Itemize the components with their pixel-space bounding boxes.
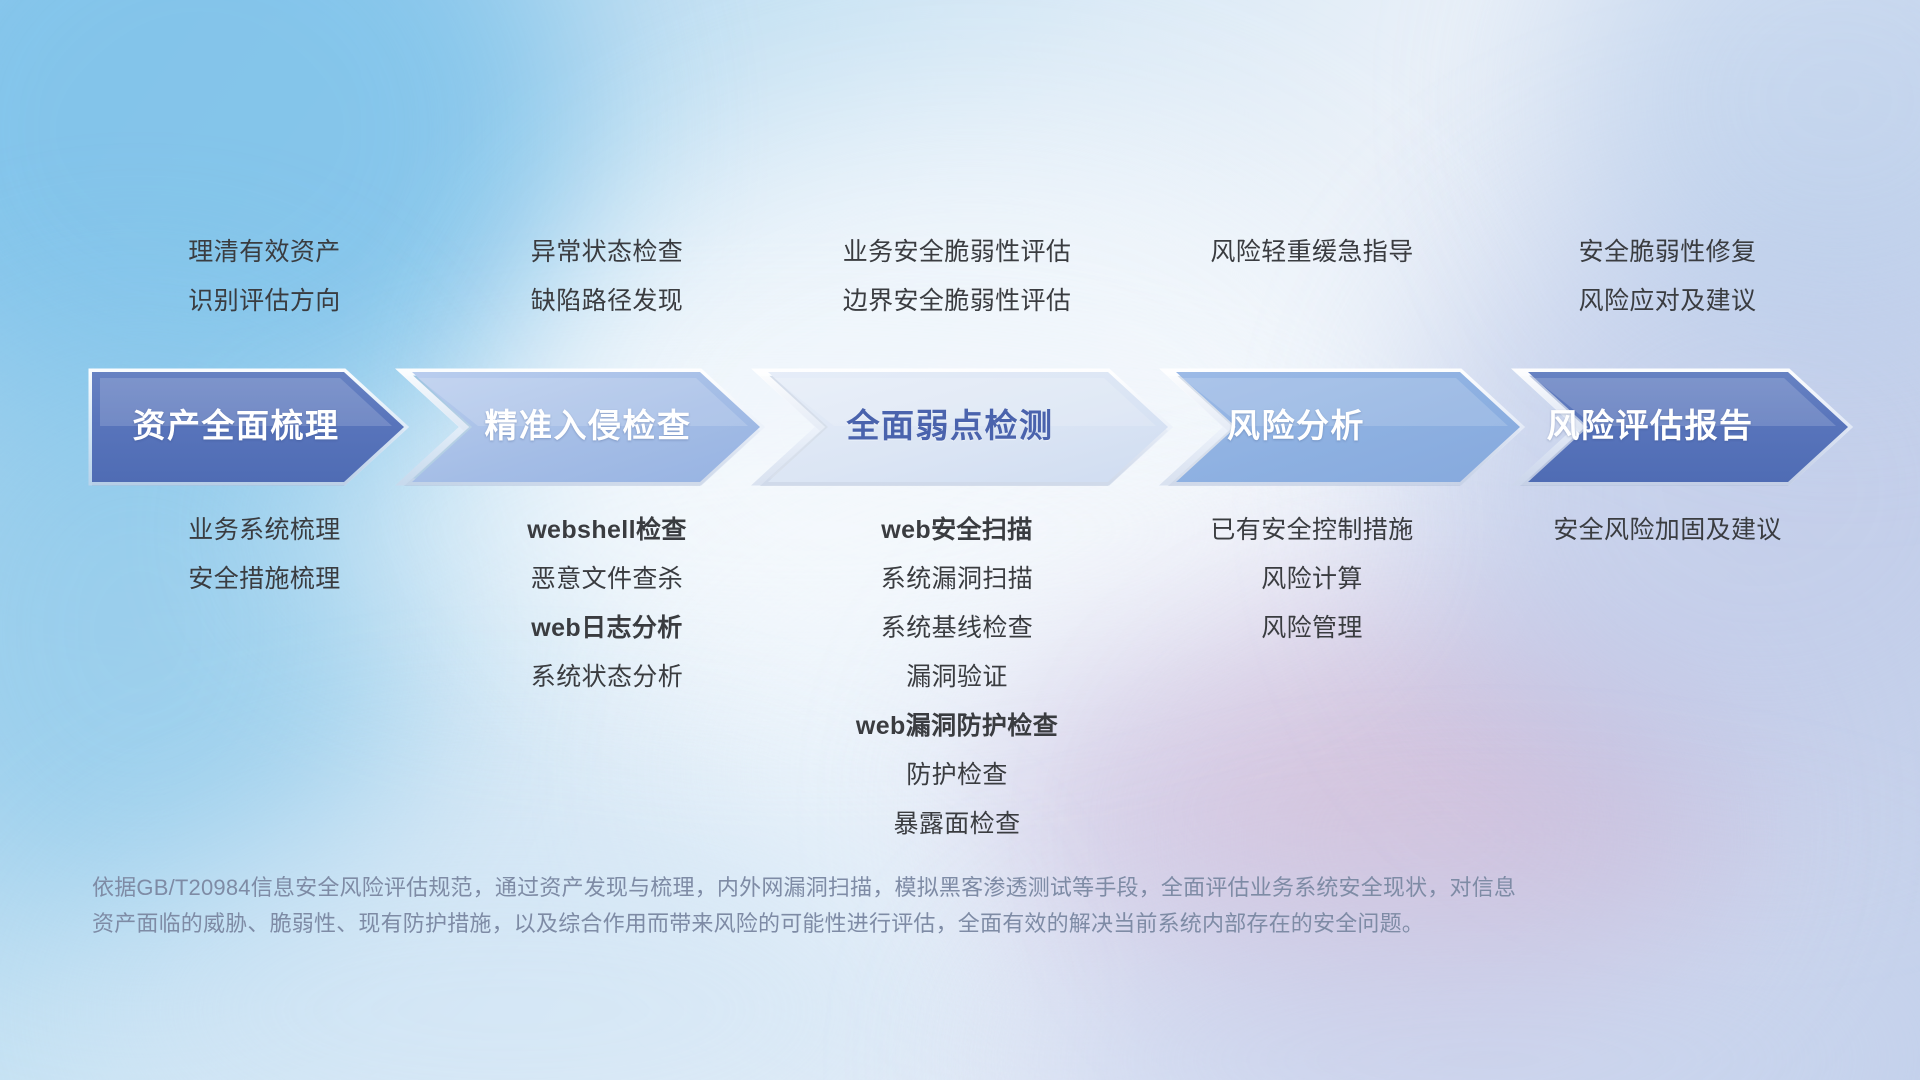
top-labels-stage-4: 风险轻重缓急指导 — [1137, 228, 1487, 348]
bottom-label-item: 系统基线检查 — [881, 604, 1033, 653]
bottom-label-item: 安全风险加固及建议 — [1553, 506, 1782, 555]
top-label-item: 边界安全脆弱性评估 — [843, 277, 1072, 326]
footer-line-2: 资产面临的威胁、脆弱性、现有防护措施，以及综合作用而带来风险的可能性进行评估，全… — [92, 906, 1792, 942]
bottom-label-item: 风险计算 — [1261, 555, 1363, 604]
bottom-labels-stage-4: 已有安全控制措施 风险计算 风险管理 — [1137, 506, 1487, 653]
bottom-label-item: web安全扫描 — [881, 506, 1032, 555]
bottom-label-item: 防护检查 — [906, 751, 1008, 800]
top-labels-stage-2: 异常状态检查 缺陷路径发现 — [437, 228, 777, 348]
top-label-item: 风险轻重缓急指导 — [1210, 228, 1413, 277]
top-labels-stage-1: 理清有效资产 识别评估方向 — [92, 228, 437, 348]
bottom-labels-stage-2: webshell检查 恶意文件查杀 web日志分析 系统状态分析 — [437, 506, 777, 702]
bottom-label-row: 业务系统梳理 安全措施梳理 webshell检查 恶意文件查杀 web日志分析 … — [92, 506, 1848, 849]
top-label-item: 异常状态检查 — [531, 228, 683, 277]
bottom-label-item: 暴露面检查 — [893, 800, 1020, 849]
bottom-labels-stage-1: 业务系统梳理 安全措施梳理 — [92, 506, 437, 604]
top-label-item: 识别评估方向 — [188, 277, 340, 326]
bottom-label-item: 漏洞验证 — [906, 653, 1008, 702]
bottom-label-item: 风险管理 — [1261, 604, 1363, 653]
bottom-label-item: web漏洞防护检查 — [856, 702, 1058, 751]
top-label-item: 业务安全脆弱性评估 — [843, 228, 1072, 277]
bottom-label-item: 恶意文件查杀 — [531, 555, 683, 604]
top-label-item: 安全脆弱性修复 — [1579, 228, 1757, 277]
footer-description: 依据GB/T20984信息安全风险评估规范，通过资产发现与梳理，内外网漏洞扫描，… — [92, 870, 1792, 942]
chevron-process-band — [0, 360, 1920, 492]
top-label-item: 缺陷路径发现 — [531, 277, 683, 326]
top-label-item: 风险应对及建议 — [1579, 277, 1757, 326]
bottom-label-item: 已有安全控制措施 — [1210, 506, 1413, 555]
top-labels-stage-3: 业务安全脆弱性评估 边界安全脆弱性评估 — [777, 228, 1137, 348]
bottom-label-item: 系统状态分析 — [531, 653, 683, 702]
top-label-row: 理清有效资产 识别评估方向 异常状态检查 缺陷路径发现 业务安全脆弱性评估 边界… — [92, 228, 1848, 348]
bottom-labels-stage-3: web安全扫描 系统漏洞扫描 系统基线检查 漏洞验证 web漏洞防护检查 防护检… — [777, 506, 1137, 849]
bottom-labels-stage-5: 安全风险加固及建议 — [1487, 506, 1848, 555]
footer-line-1: 依据GB/T20984信息安全风险评估规范，通过资产发现与梳理，内外网漏洞扫描，… — [92, 870, 1792, 906]
top-label-item: 理清有效资产 — [188, 228, 340, 277]
top-labels-stage-5: 安全脆弱性修复 风险应对及建议 — [1487, 228, 1848, 348]
bottom-label-item: 系统漏洞扫描 — [881, 555, 1033, 604]
bottom-label-item: 安全措施梳理 — [188, 555, 340, 604]
bottom-label-item: web日志分析 — [531, 604, 682, 653]
bottom-label-item: webshell检查 — [527, 506, 687, 555]
bottom-label-item: 业务系统梳理 — [188, 506, 340, 555]
process-diagram: 理清有效资产 识别评估方向 异常状态检查 缺陷路径发现 业务安全脆弱性评估 边界… — [0, 0, 1920, 1080]
